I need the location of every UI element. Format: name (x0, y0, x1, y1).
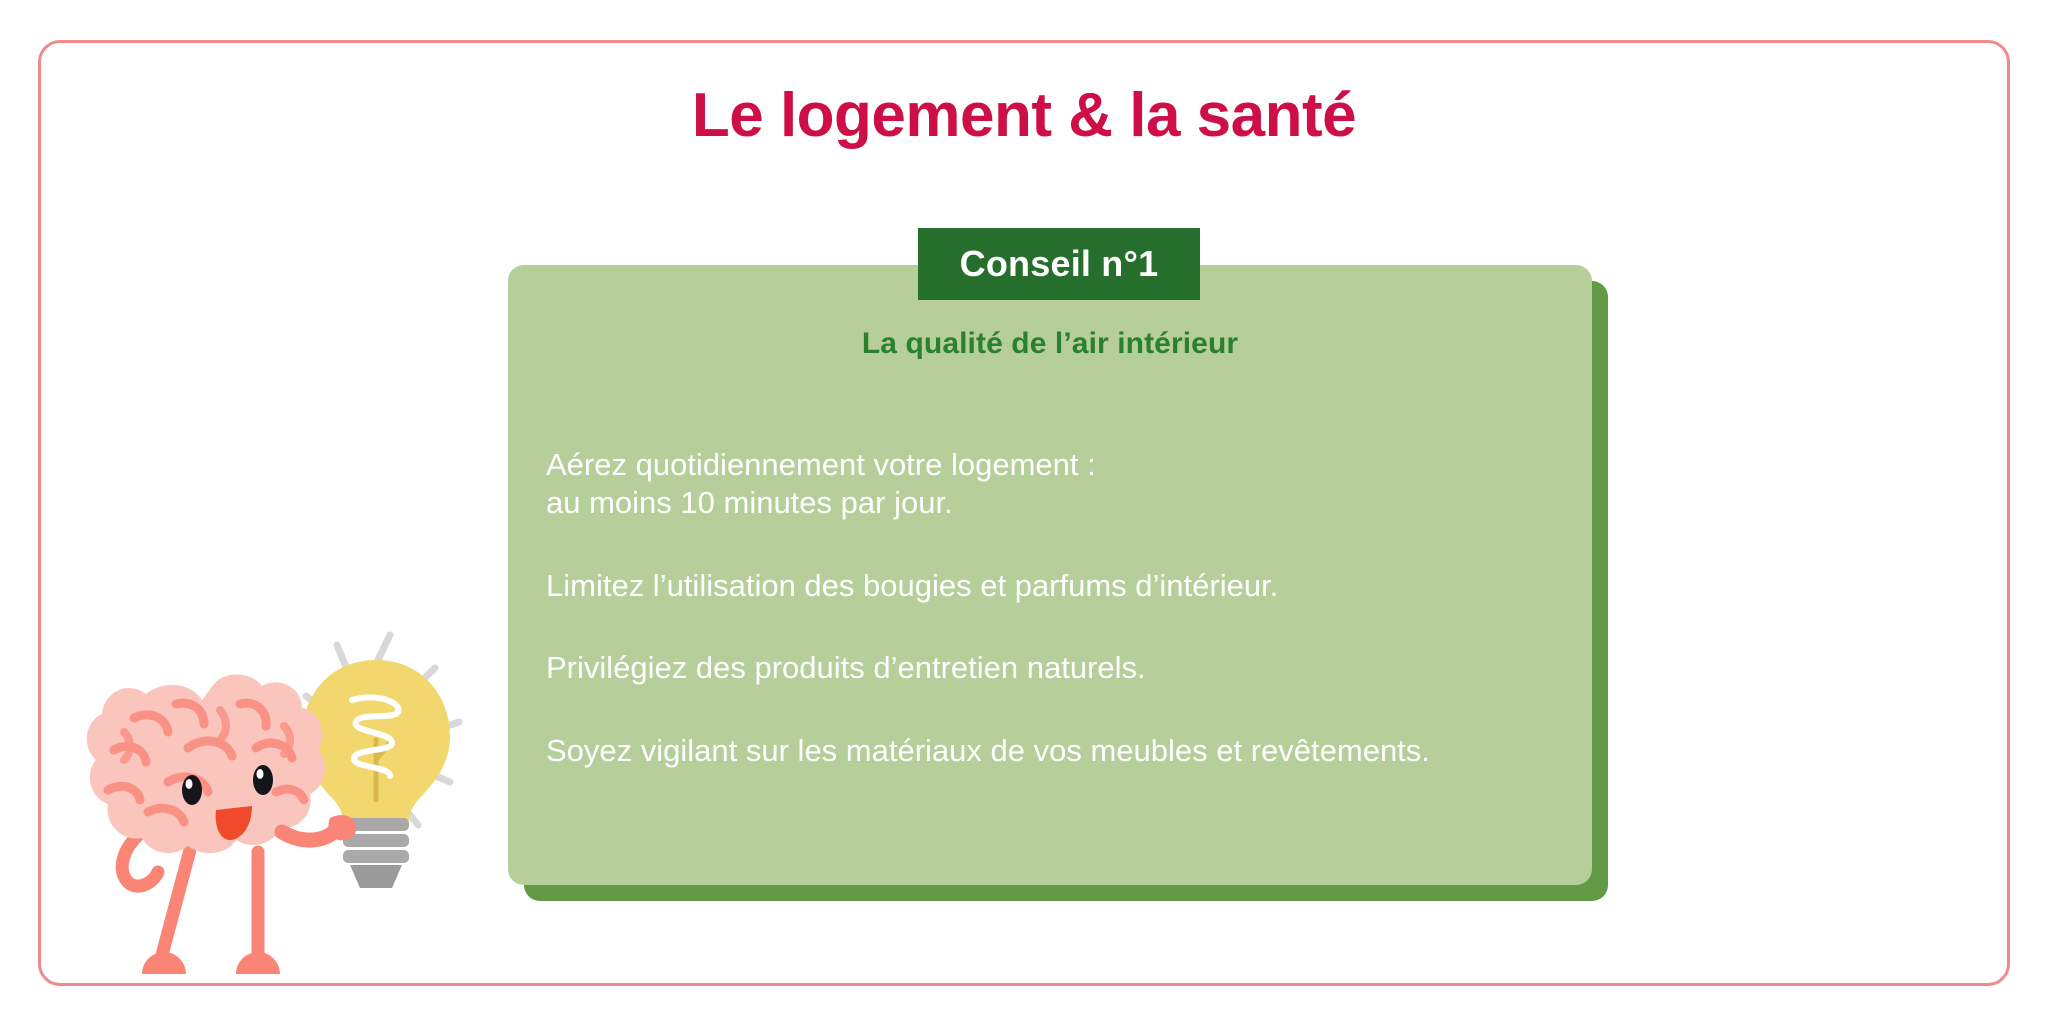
page-title: Le logement & la santé (0, 82, 2048, 150)
advice-number-badge: Conseil n°1 (918, 228, 1200, 300)
advice-tips-list: Aérez quotidiennement votre logement : a… (546, 415, 1576, 770)
brain-foot-right (236, 952, 280, 974)
advice-tip-item: Aérez quotidiennement votre logement : a… (546, 446, 1576, 522)
brain-mascot-svg (80, 600, 480, 990)
brain-eye-right (253, 765, 273, 795)
advice-tip-item: Privilégiez des produits d’entretien nat… (546, 649, 1576, 687)
advice-card-subtitle: La qualité de l’air intérieur (508, 327, 1592, 361)
advice-card: La qualité de l’air intérieur Aérez quot… (508, 265, 1592, 885)
advice-tip-item: Limitez l’utilisation des bougies et par… (546, 567, 1576, 605)
lightbulb-base-ring (343, 850, 409, 863)
advice-card-surface: La qualité de l’air intérieur Aérez quot… (508, 265, 1592, 885)
lightbulb-base-tip (350, 865, 402, 888)
brain-body (87, 674, 325, 853)
advice-tip-item: Soyez vigilant sur les matériaux de vos … (546, 732, 1576, 770)
slide-root: Le logement & la santé La qualité de l’a… (0, 0, 2048, 1024)
brain-foot-left (142, 952, 186, 974)
brain-eye-left (182, 775, 202, 805)
brain-mascot-illustration (80, 600, 480, 990)
brain-eye-left-highlight (186, 779, 193, 789)
brain-eye-right-highlight (257, 769, 264, 779)
